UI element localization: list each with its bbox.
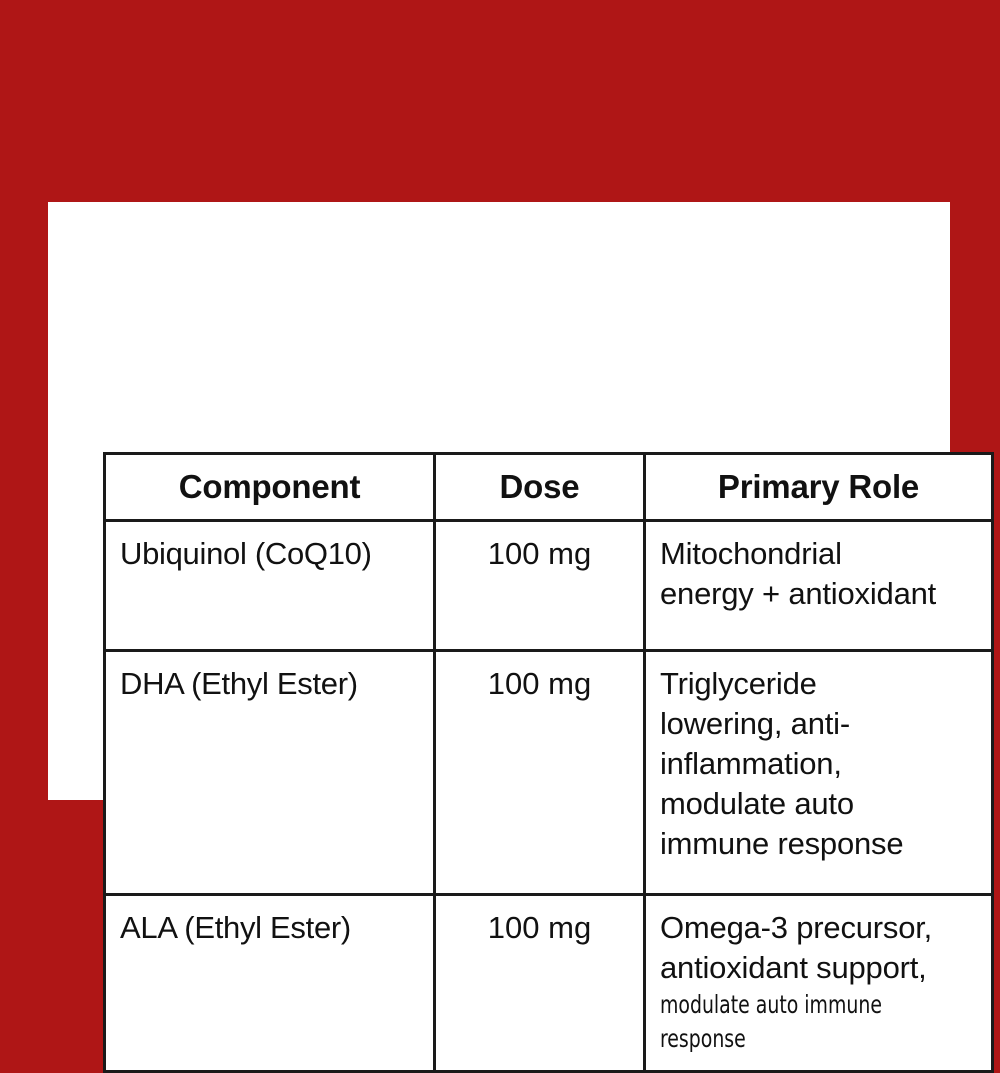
page-background: Component Dose Primary Role Ubiquinol (C… bbox=[0, 0, 1000, 1000]
cell-component: ALA (Ethyl Ester) bbox=[105, 895, 435, 1072]
column-header-primary-role: Primary Role bbox=[645, 454, 993, 521]
table-header: Component Dose Primary Role bbox=[105, 454, 993, 521]
role-line-condensed: modulate auto immune response bbox=[660, 988, 926, 1056]
role-line: lowering, anti- bbox=[660, 704, 977, 744]
column-header-component: Component bbox=[105, 454, 435, 521]
column-header-dose: Dose bbox=[435, 454, 645, 521]
cell-primary-role: Triglyceride lowering, anti- inflammatio… bbox=[645, 651, 993, 895]
cell-dose: 100 mg bbox=[435, 895, 645, 1072]
role-line: Mitochondrial bbox=[660, 534, 977, 574]
cell-component: Ubiquinol (CoQ10) bbox=[105, 521, 435, 651]
supplement-spec-table: Component Dose Primary Role Ubiquinol (C… bbox=[103, 452, 994, 1073]
cell-primary-role: Mitochondrial energy + antioxidant bbox=[645, 521, 993, 651]
role-line: Omega-3 precursor, bbox=[660, 908, 977, 948]
role-line: antioxidant support, bbox=[660, 948, 977, 988]
supplement-table-container: Component Dose Primary Role Ubiquinol (C… bbox=[103, 452, 991, 975]
role-line: Triglyceride bbox=[660, 664, 977, 704]
table-body: Ubiquinol (CoQ10) 100 mg Mitochondrial e… bbox=[105, 521, 993, 1072]
white-card: Component Dose Primary Role Ubiquinol (C… bbox=[48, 202, 950, 800]
table-row: ALA (Ethyl Ester) 100 mg Omega-3 precurs… bbox=[105, 895, 993, 1072]
role-line: immune response bbox=[660, 824, 977, 864]
table-row: DHA (Ethyl Ester) 100 mg Triglyceride lo… bbox=[105, 651, 993, 895]
role-line: energy + antioxidant bbox=[660, 574, 977, 614]
header-row: Component Dose Primary Role bbox=[105, 454, 993, 521]
cell-dose: 100 mg bbox=[435, 651, 645, 895]
table-row: Ubiquinol (CoQ10) 100 mg Mitochondrial e… bbox=[105, 521, 993, 651]
role-line: inflammation, bbox=[660, 744, 977, 784]
role-line: modulate auto bbox=[660, 784, 977, 824]
cell-primary-role: Omega-3 precursor, antioxidant support, … bbox=[645, 895, 993, 1072]
cell-dose: 100 mg bbox=[435, 521, 645, 651]
cell-component: DHA (Ethyl Ester) bbox=[105, 651, 435, 895]
